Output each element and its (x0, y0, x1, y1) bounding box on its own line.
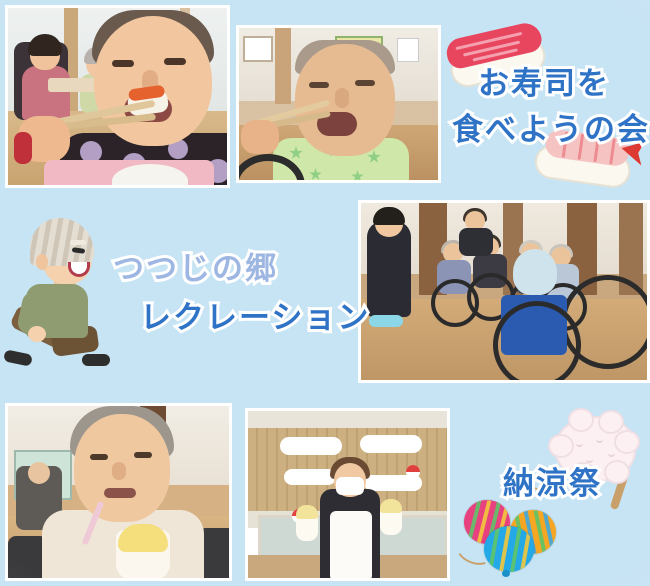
poster-canvas: お寿司を 食べようの会 つつじの郷 レクレーション 納涼祭 (0, 0, 650, 586)
cotton-candy-puff (600, 412, 622, 432)
woman-left-eye (90, 454, 108, 460)
star-pattern (367, 150, 381, 164)
decor-sign-oishii (280, 437, 342, 455)
star-pattern (309, 168, 322, 180)
door-frame (275, 28, 291, 104)
cotton-candy-puff (550, 436, 572, 456)
background-person-body (22, 66, 70, 120)
decor-yoyo (406, 465, 420, 479)
white-apron (330, 511, 372, 578)
framed-picture (243, 36, 273, 62)
right-shoe (82, 354, 110, 366)
man-left-eye (309, 82, 329, 88)
star-pattern (289, 146, 303, 160)
woman-mouth (104, 488, 136, 498)
woman-nose (112, 462, 126, 480)
balloon-blue (484, 526, 534, 572)
staff-body (459, 228, 493, 256)
background-resident-head (28, 462, 50, 484)
heading-summer-festival: 納涼祭 (503, 458, 602, 503)
heading-facility-name: つつじの郷 (113, 243, 278, 288)
cotton-candy-puff (570, 410, 592, 430)
photo-woman-eating-shaved-ice (5, 403, 232, 581)
woman-left-eye (112, 60, 134, 67)
ear (36, 254, 48, 270)
staff-member (310, 459, 390, 578)
cotton-candy-puff (606, 462, 628, 482)
photo-staff-with-shaved-ice (245, 408, 450, 581)
shaved-ice-cup-right (380, 509, 402, 535)
left-hand (28, 326, 46, 342)
photo-recreation-room (358, 200, 650, 383)
red-wristband (14, 132, 32, 164)
eyebrow (70, 240, 86, 245)
woman-right-eye (134, 452, 152, 458)
heading-sushi-line2: 食べようの会 (452, 104, 650, 149)
room-wall (248, 411, 447, 428)
man-hand (241, 120, 279, 154)
staff-member-hair (373, 207, 405, 225)
left-shoe (3, 349, 33, 367)
wall-sign (397, 38, 419, 62)
man-right-eye (355, 80, 375, 86)
shaved-ice-lemon (118, 524, 168, 552)
man-nose (335, 88, 349, 108)
balloon-knot (502, 570, 510, 577)
woman-right-eye (164, 58, 186, 65)
resident-head-foreground (513, 249, 557, 295)
photo-woman-eating-sushi (5, 5, 230, 188)
heading-activity-name: レクレーション (140, 292, 370, 337)
face-mask (336, 477, 364, 495)
staff-shoe (369, 315, 403, 327)
cotton-texture (596, 436, 603, 443)
cotton-candy-puff (616, 432, 638, 452)
decor-sign-fuwafuwa (360, 435, 422, 453)
elderly-man-exercising-icon (8, 214, 118, 374)
star-pattern (351, 170, 364, 180)
photo-man-eating-sushi (236, 25, 441, 183)
shaved-ice-cup-left (296, 515, 318, 541)
cotton-texture (608, 450, 615, 457)
cotton-texture (576, 440, 583, 447)
wheelchair-wheel-large (493, 301, 581, 380)
heading-sushi-line1: お寿司を (478, 58, 610, 103)
